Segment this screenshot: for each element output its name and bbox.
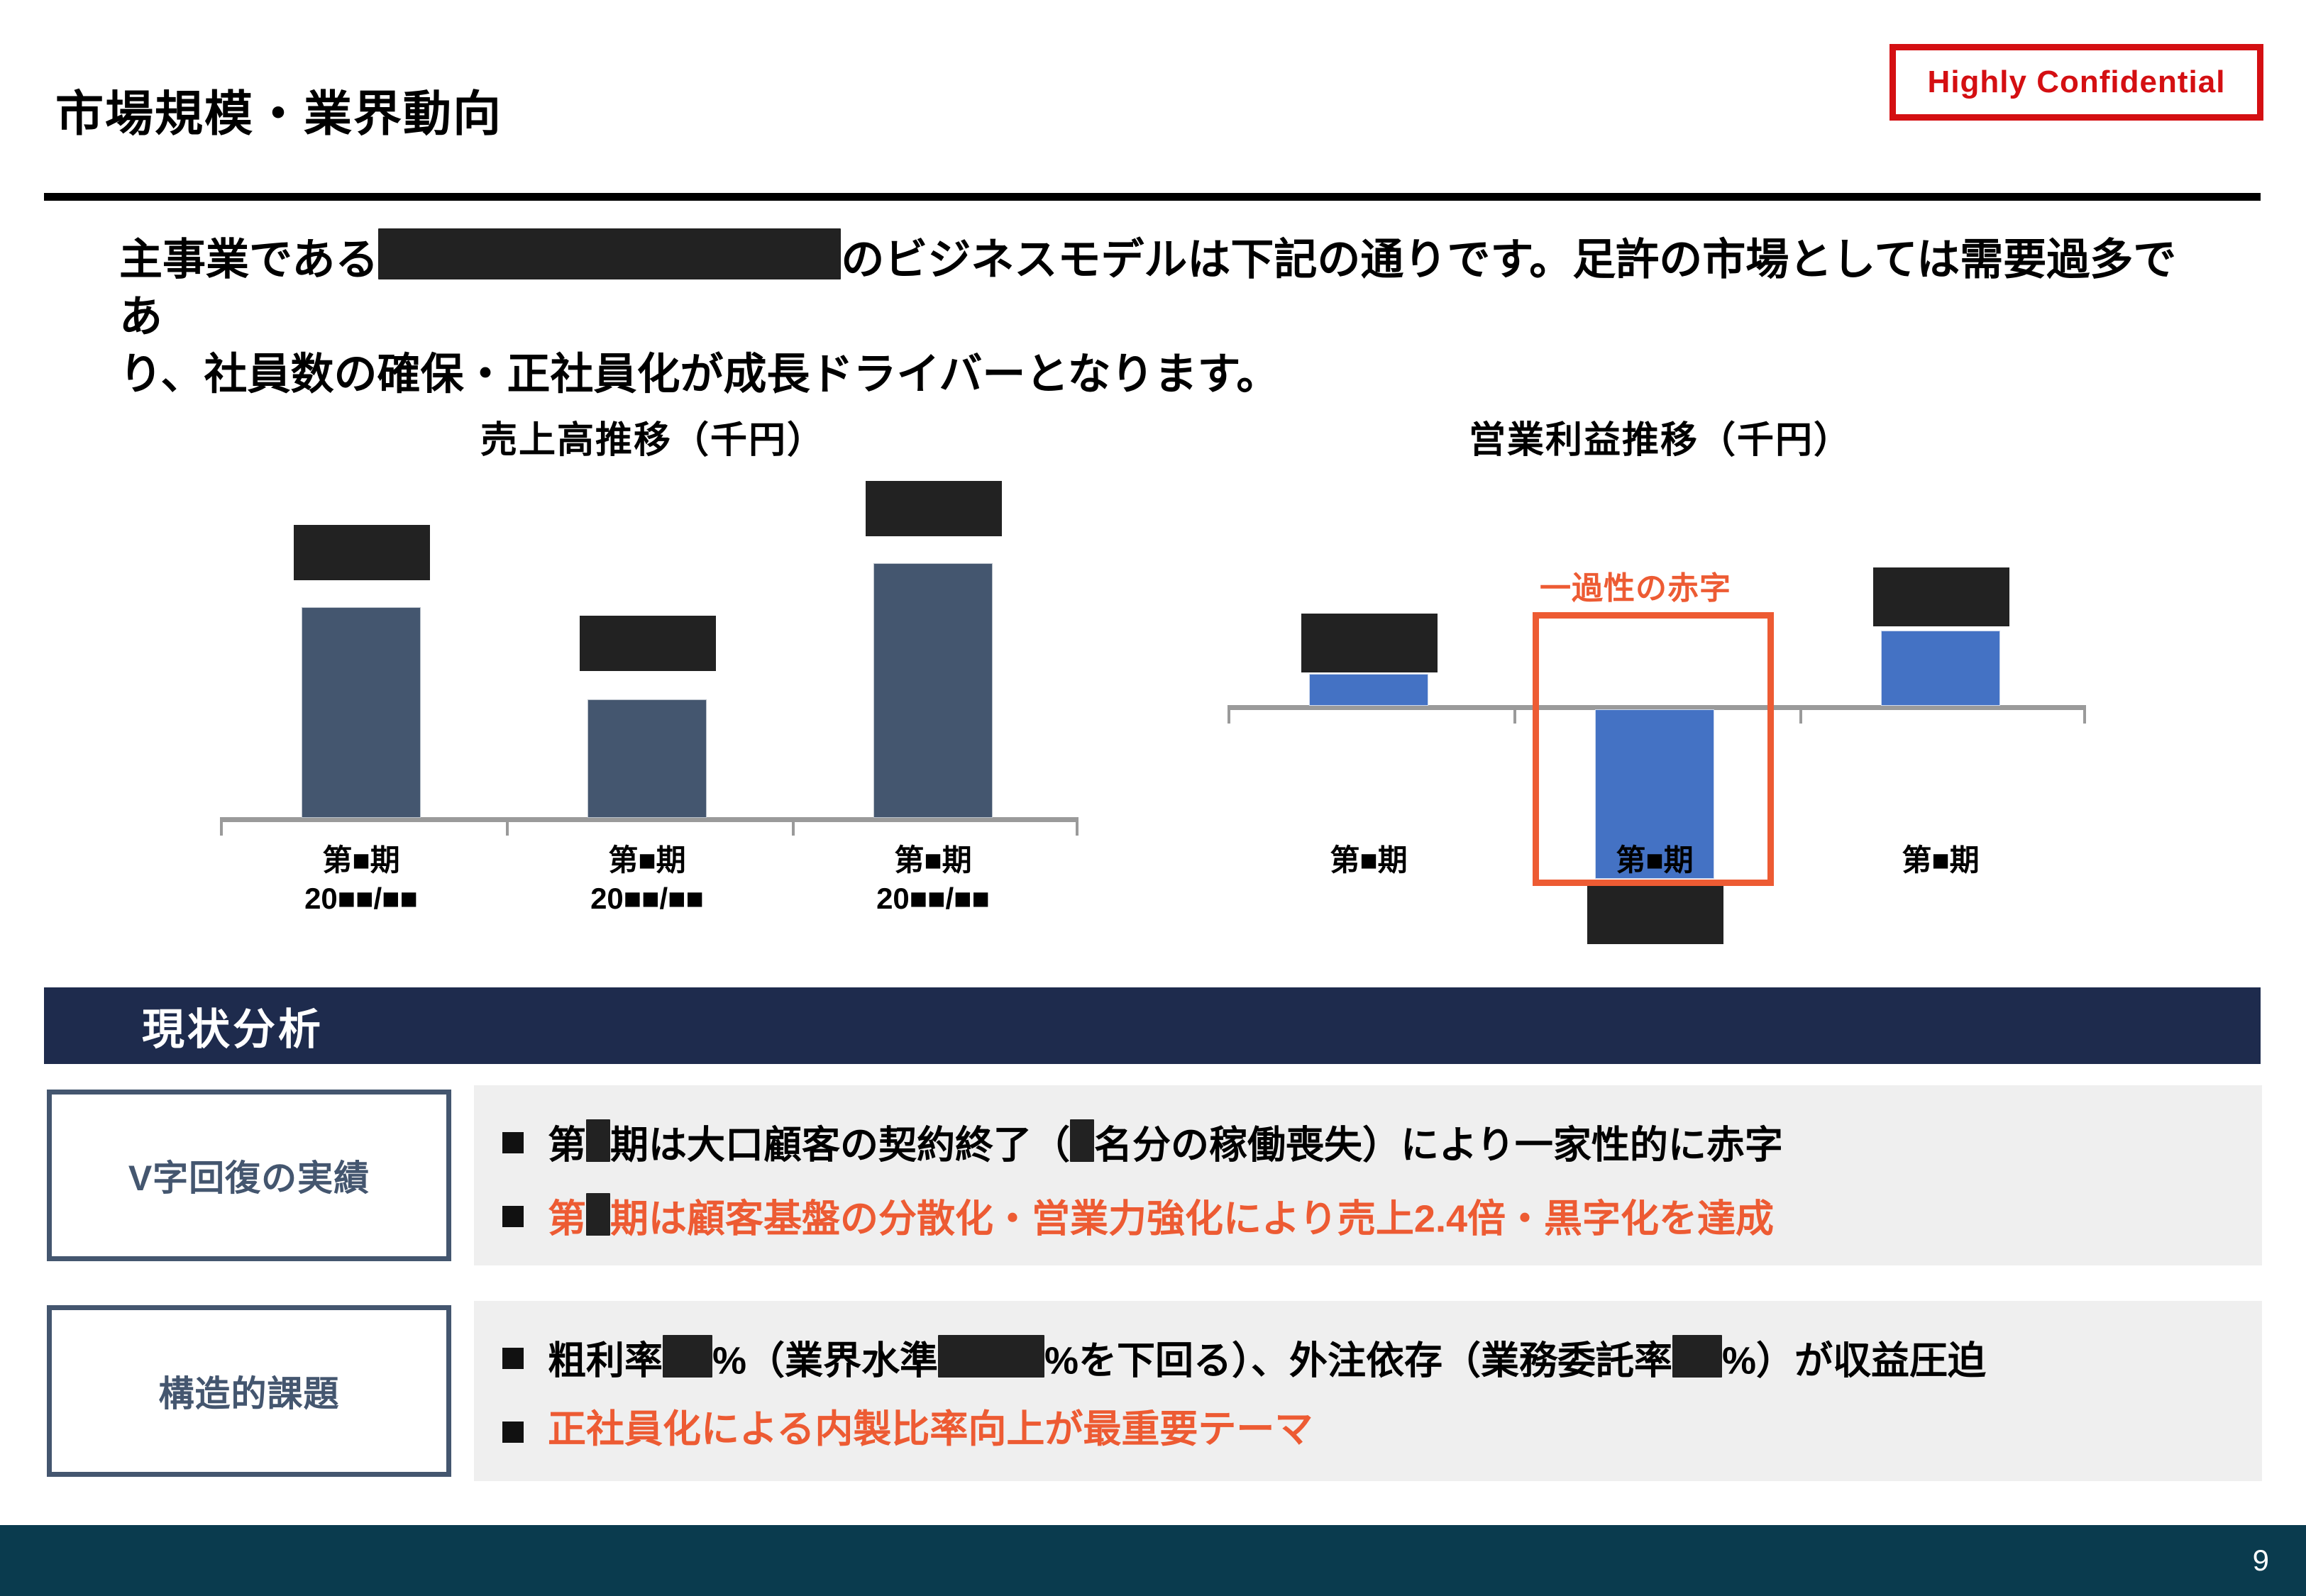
revenue-x-axis — [220, 817, 1078, 822]
revenue-bar-2 — [874, 564, 992, 817]
analysis-bullet-panel-0: 第期は大口顧客の契約終了（名分の稼働喪失）により一家性的に赤字 第期は顧客基盤の… — [474, 1085, 2262, 1265]
redacted-gross-margin — [663, 1335, 712, 1378]
profit-value-label-0 — [1301, 614, 1438, 672]
revenue-cat-label-0: 第■期 20■■/■■ — [262, 841, 460, 918]
analysis-bullet-0-0: 第期は大口顧客の契約終了（名分の稼働喪失）により一家性的に赤字 — [502, 1119, 1783, 1167]
analysis-bullet-text-1-1: 正社員化による内製比率向上が最重要テーマ — [548, 1409, 1313, 1451]
analysis-bullet-text-0-1: 第期は顧客基盤の分散化・営業力強化により売上2.4倍・黒字化を達成 — [548, 1193, 1774, 1241]
revenue-value-label-1 — [580, 616, 716, 671]
profit-tick-3 — [2083, 705, 2086, 724]
bullet-square-icon — [502, 1206, 524, 1227]
profit-value-label-1 — [1587, 885, 1723, 944]
analysis-category-label-1: 構造的課題 — [159, 1365, 340, 1417]
redacted-headcount — [1070, 1119, 1094, 1162]
revenue-chart: 売上高推移（千円） 第■期 20■■/■■ 第■期 20■■/■■ — [213, 410, 1093, 935]
revenue-bar-0 — [302, 608, 420, 817]
profit-tick-0 — [1228, 705, 1230, 724]
bullet-square-icon — [502, 1132, 524, 1153]
operating-profit-plot-area: 一過性の赤字 第■期 第■期 第■期 — [1220, 475, 2100, 935]
title-divider — [44, 193, 2261, 201]
analysis-bullet-1-0: 粗利率%（業界水準%を下回る）、外注依存（業務委託率%）が収益圧迫 — [502, 1335, 1986, 1382]
profit-tick-2 — [1799, 705, 1802, 724]
slide-root: 市場規模・業界動向 Highly Confidential 主事業であるのビジネ… — [0, 0, 2306, 1596]
profit-tick-1 — [1513, 705, 1516, 724]
revenue-cat-label-1: 第■期 20■■/■■ — [548, 841, 746, 918]
confidential-label: Highly Confidential — [1928, 65, 2226, 100]
revenue-chart-title: 売上高推移（千円） — [213, 410, 1093, 463]
revenue-plot-area: 第■期 20■■/■■ 第■期 20■■/■■ 第■期 20■■/■■ — [213, 475, 1093, 935]
analysis-bullet-text-1-0: 粗利率%（業界水準%を下回る）、外注依存（業務委託率%）が収益圧迫 — [548, 1335, 1986, 1382]
analysis-bullet-panel-1: 粗利率%（業界水準%を下回る）、外注依存（業務委託率%）が収益圧迫 正社員化によ… — [474, 1301, 2262, 1481]
redacted-company-name — [378, 228, 841, 279]
confidential-badge: Highly Confidential — [1890, 44, 2263, 121]
profit-bar-2 — [1882, 631, 1999, 705]
lead-paragraph: 主事業であるのビジネスモデルは下記の通りです。足許の市場としては需要過多であ り… — [119, 228, 2191, 402]
bullet-square-icon — [502, 1422, 524, 1443]
revenue-value-label-0 — [294, 525, 430, 580]
footer-bar: 9 — [0, 1525, 2306, 1596]
revenue-tick-2 — [792, 817, 795, 836]
revenue-cat-date-0: 20■■/■■ — [304, 882, 418, 915]
page-number: 9 — [2253, 1544, 2269, 1578]
redacted-industry-margin — [938, 1335, 1044, 1378]
profit-bar-0 — [1310, 675, 1428, 705]
revenue-cat-date-2: 20■■/■■ — [876, 882, 990, 915]
revenue-cat-period-0: 第■期 — [322, 843, 399, 877]
operating-profit-chart-title: 営業利益推移（千円） — [1220, 410, 2100, 463]
analysis-category-label-0: V字回復の実績 — [128, 1150, 370, 1201]
revenue-cat-period-1: 第■期 — [608, 843, 685, 877]
bullet-square-icon — [502, 1348, 524, 1369]
redacted-period-number — [586, 1193, 610, 1236]
analysis-bullet-text-0-0: 第期は大口顧客の契約終了（名分の稼働喪失）により一家性的に赤字 — [548, 1119, 1783, 1167]
redacted-outsourcing-rate — [1672, 1335, 1722, 1378]
page-title: 市場規模・業界動向 — [55, 74, 502, 145]
profit-cat-label-2: 第■期 — [1841, 841, 2040, 880]
profit-cat-label-1: 第■期 — [1555, 841, 1754, 880]
revenue-cat-label-2: 第■期 20■■/■■ — [834, 841, 1032, 918]
operating-profit-chart: 営業利益推移（千円） 一過性の赤字 第■期 第■期 第■期 — [1220, 410, 2100, 935]
revenue-cat-period-2: 第■期 — [894, 843, 971, 877]
analysis-section-header: 現状分析 — [44, 987, 2261, 1064]
revenue-tick-3 — [1076, 817, 1078, 836]
redacted-period-number — [586, 1119, 610, 1162]
analysis-section-title: 現状分析 — [142, 995, 324, 1057]
revenue-value-label-2 — [866, 481, 1002, 536]
lead-text-line2: り、社員数の確保・正社員化が成長ドライバーとなります。 — [119, 350, 1279, 398]
revenue-cat-date-1: 20■■/■■ — [590, 882, 704, 915]
analysis-bullet-0-1: 第期は顧客基盤の分散化・営業力強化により売上2.4倍・黒字化を達成 — [502, 1193, 1774, 1241]
revenue-tick-0 — [220, 817, 223, 836]
revenue-bar-1 — [588, 700, 706, 817]
loss-annotation-label: 一過性の赤字 — [1540, 563, 1731, 608]
profit-value-label-2 — [1873, 567, 2009, 626]
analysis-category-box-1: 構造的課題 — [47, 1305, 451, 1477]
analysis-bullet-1-1: 正社員化による内製比率向上が最重要テーマ — [502, 1409, 1313, 1451]
profit-cat-label-0: 第■期 — [1269, 841, 1468, 880]
analysis-category-box-0: V字回復の実績 — [47, 1090, 451, 1261]
revenue-tick-1 — [506, 817, 509, 836]
lead-text-part1: 主事業である — [119, 235, 378, 284]
